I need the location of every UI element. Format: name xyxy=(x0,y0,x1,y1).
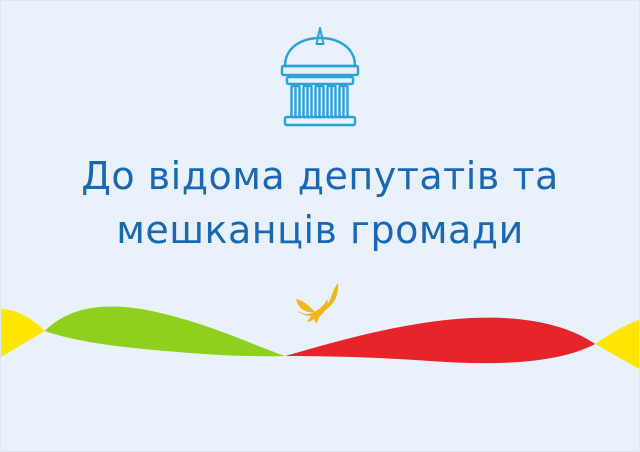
dove-bird-icon xyxy=(294,282,346,330)
green-wave xyxy=(45,307,285,357)
announcement-banner: До відома депутатів та мешканців громади xyxy=(0,0,640,452)
page-title: До відома депутатів та мешканців громади xyxy=(1,149,639,257)
headline-line-1: До відома депутатів та xyxy=(31,149,609,203)
rotunda-pavilion-icon xyxy=(277,25,363,127)
yellow-left-wave xyxy=(1,309,45,357)
headline-line-2: мешканців громади xyxy=(31,203,609,257)
yellow-right-wave xyxy=(595,320,639,369)
